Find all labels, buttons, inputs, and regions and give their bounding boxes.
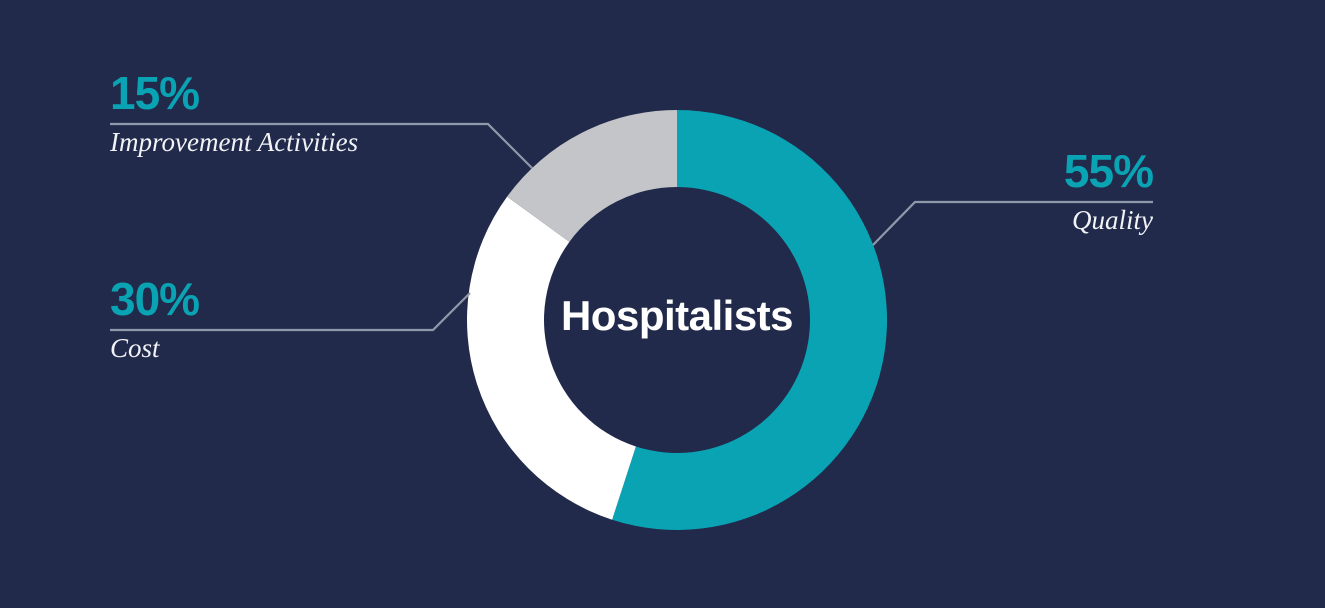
chart-canvas: Hospitalists 15% Improvement Activities … (0, 0, 1325, 608)
callout-percent-improvement-activities: 15% (110, 70, 358, 116)
callout-percent-cost: 30% (110, 276, 199, 322)
callout-category-improvement-activities: Improvement Activities (110, 127, 358, 157)
callout-improvement-activities[interactable]: 15% Improvement Activities (110, 70, 358, 157)
callout-category-quality: Quality (853, 205, 1153, 235)
donut-center-label: Hospitalists (477, 292, 877, 340)
callout-quality[interactable]: 55% Quality (853, 148, 1153, 235)
donut-slice-cost[interactable] (467, 197, 636, 520)
callout-cost[interactable]: 30% Cost (110, 276, 199, 363)
callout-percent-quality: 55% (853, 148, 1153, 194)
callout-category-cost: Cost (110, 333, 199, 363)
